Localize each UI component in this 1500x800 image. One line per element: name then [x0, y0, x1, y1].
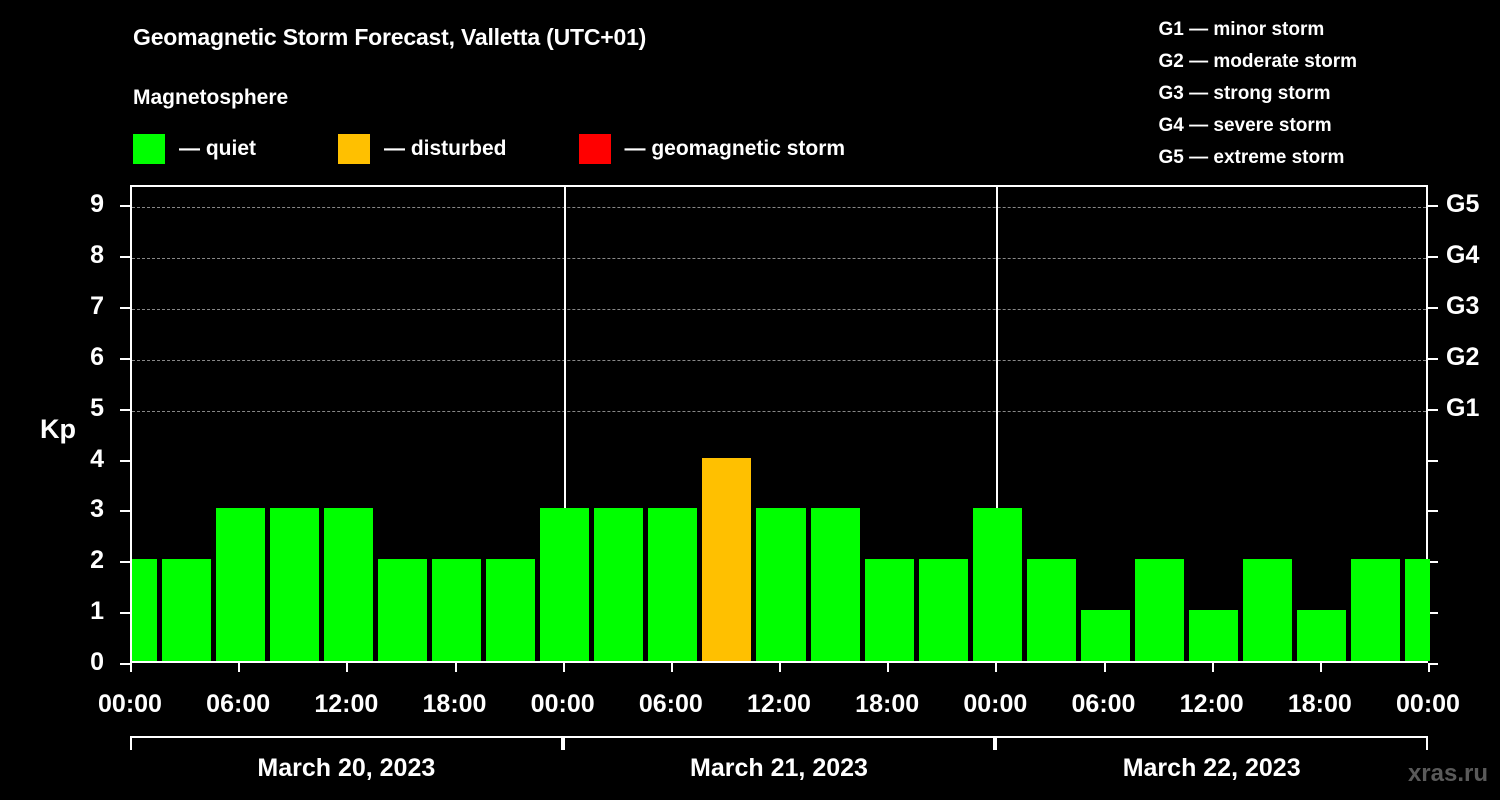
bar[interactable] [1081, 610, 1130, 661]
day-label-3: March 22, 2023 [1123, 754, 1301, 783]
gtick-label-g5: G5 [1446, 192, 1479, 217]
ytick-mark-2 [120, 561, 130, 563]
ytick-label-6: 6 [64, 345, 104, 370]
xtick-mark-6 [779, 663, 781, 672]
xtick-label-5: 06:00 [639, 690, 703, 719]
bar[interactable] [432, 559, 481, 661]
bar[interactable] [1135, 559, 1184, 661]
ytick-mark-7 [120, 307, 130, 309]
bar[interactable] [756, 508, 805, 661]
ytick-label-5: 5 [64, 396, 104, 421]
ytick-label-7: 7 [64, 294, 104, 319]
xtick-label-0: 00:00 [98, 690, 162, 719]
right-tick-mark-6 [1428, 358, 1438, 360]
bar[interactable] [216, 508, 265, 661]
quiet-swatch [133, 134, 165, 164]
right-tick-mark-3 [1428, 510, 1438, 512]
right-tick-mark-5 [1428, 409, 1438, 411]
ytick-mark-4 [120, 460, 130, 462]
legend-heading: Magnetosphere [133, 86, 288, 110]
bar[interactable] [132, 559, 157, 661]
g-scale-line-g4: G4 — severe storm [1159, 110, 1358, 142]
xtick-label-9: 06:00 [1072, 690, 1136, 719]
xtick-label-8: 00:00 [963, 690, 1027, 719]
bar[interactable] [1351, 559, 1400, 661]
bar[interactable] [1027, 559, 1076, 661]
xtick-mark-4 [563, 663, 565, 672]
bar[interactable] [162, 559, 211, 661]
bar[interactable] [1405, 559, 1430, 661]
xtick-label-1: 06:00 [206, 690, 270, 719]
right-tick-mark-9 [1428, 205, 1438, 207]
legend-label-disturbed: — disturbed [384, 137, 507, 161]
bar[interactable] [540, 508, 589, 661]
g-scale-line-g5: G5 — extreme storm [1159, 142, 1358, 174]
bar[interactable] [702, 458, 751, 661]
g-scale-line-g2: G2 — moderate storm [1159, 46, 1358, 78]
storm-swatch [579, 134, 611, 164]
bar[interactable] [865, 559, 914, 661]
xtick-label-12: 00:00 [1396, 690, 1460, 719]
right-tick-mark-7 [1428, 307, 1438, 309]
g-scale-legend: G1 — minor storm G2 — moderate storm G3 … [1159, 14, 1358, 174]
xtick-mark-5 [671, 663, 673, 672]
bar[interactable] [378, 559, 427, 661]
day-label-1: March 20, 2023 [257, 754, 435, 783]
ytick-mark-8 [120, 256, 130, 258]
bar[interactable] [919, 559, 968, 661]
day-bracket-1 [130, 736, 563, 750]
page-title: Geomagnetic Storm Forecast, Valletta (UT… [133, 24, 646, 51]
day-label-2: March 21, 2023 [690, 754, 868, 783]
xtick-mark-11 [1320, 663, 1322, 672]
xtick-mark-0 [130, 663, 132, 672]
ytick-mark-3 [120, 510, 130, 512]
xtick-mark-2 [346, 663, 348, 672]
plot-inner [132, 187, 1426, 661]
legend-label-storm: — geomagnetic storm [625, 137, 846, 161]
ytick-label-4: 4 [64, 447, 104, 472]
xtick-mark-1 [238, 663, 240, 672]
plot-area [130, 185, 1428, 663]
xtick-mark-12 [1428, 663, 1430, 672]
ytick-label-0: 0 [64, 650, 104, 675]
xtick-label-11: 18:00 [1288, 690, 1352, 719]
xtick-mark-3 [455, 663, 457, 672]
bar[interactable] [811, 508, 860, 661]
bar[interactable] [486, 559, 535, 661]
bars-layer [132, 187, 1426, 661]
ytick-label-3: 3 [64, 497, 104, 522]
xtick-label-6: 12:00 [747, 690, 811, 719]
ytick-mark-5 [120, 409, 130, 411]
bar[interactable] [270, 508, 319, 661]
ytick-mark-6 [120, 358, 130, 360]
gtick-label-g1: G1 [1446, 396, 1479, 421]
gtick-label-g4: G4 [1446, 243, 1479, 268]
xtick-label-3: 18:00 [423, 690, 487, 719]
g-scale-line-g1: G1 — minor storm [1159, 14, 1358, 46]
xtick-mark-8 [995, 663, 997, 672]
bar[interactable] [973, 508, 1022, 661]
xtick-mark-9 [1104, 663, 1106, 672]
xtick-mark-10 [1212, 663, 1214, 672]
legend-label-quiet: — quiet [179, 137, 256, 161]
bar[interactable] [324, 508, 373, 661]
ytick-mark-0 [120, 663, 130, 665]
right-tick-mark-8 [1428, 256, 1438, 258]
ytick-mark-1 [120, 612, 130, 614]
ytick-label-1: 1 [64, 599, 104, 624]
day-bracket-3 [995, 736, 1428, 750]
gtick-label-g3: G3 [1446, 294, 1479, 319]
xtick-label-7: 18:00 [855, 690, 919, 719]
day-bracket-2 [563, 736, 996, 750]
bar[interactable] [1297, 610, 1346, 661]
bar[interactable] [648, 508, 697, 661]
ytick-label-2: 2 [64, 548, 104, 573]
right-tick-mark-4 [1428, 460, 1438, 462]
legend-item-disturbed: — disturbed [338, 133, 507, 165]
bar[interactable] [1189, 610, 1238, 661]
ytick-label-8: 8 [64, 243, 104, 268]
legend-item-storm: — geomagnetic storm [579, 133, 846, 165]
xtick-mark-7 [887, 663, 889, 672]
legend: — quiet — disturbed — geomagnetic storm [133, 133, 845, 165]
ytick-label-9: 9 [64, 192, 104, 217]
g-scale-line-g3: G3 — strong storm [1159, 78, 1358, 110]
xtick-label-2: 12:00 [314, 690, 378, 719]
watermark: xras.ru [1408, 760, 1488, 788]
disturbed-swatch [338, 134, 370, 164]
legend-item-quiet: — quiet [133, 133, 256, 165]
bar[interactable] [1243, 559, 1292, 661]
xtick-label-4: 00:00 [531, 690, 595, 719]
xtick-label-10: 12:00 [1180, 690, 1244, 719]
ytick-mark-9 [120, 205, 130, 207]
gtick-label-g2: G2 [1446, 345, 1479, 370]
bar[interactable] [594, 508, 643, 661]
